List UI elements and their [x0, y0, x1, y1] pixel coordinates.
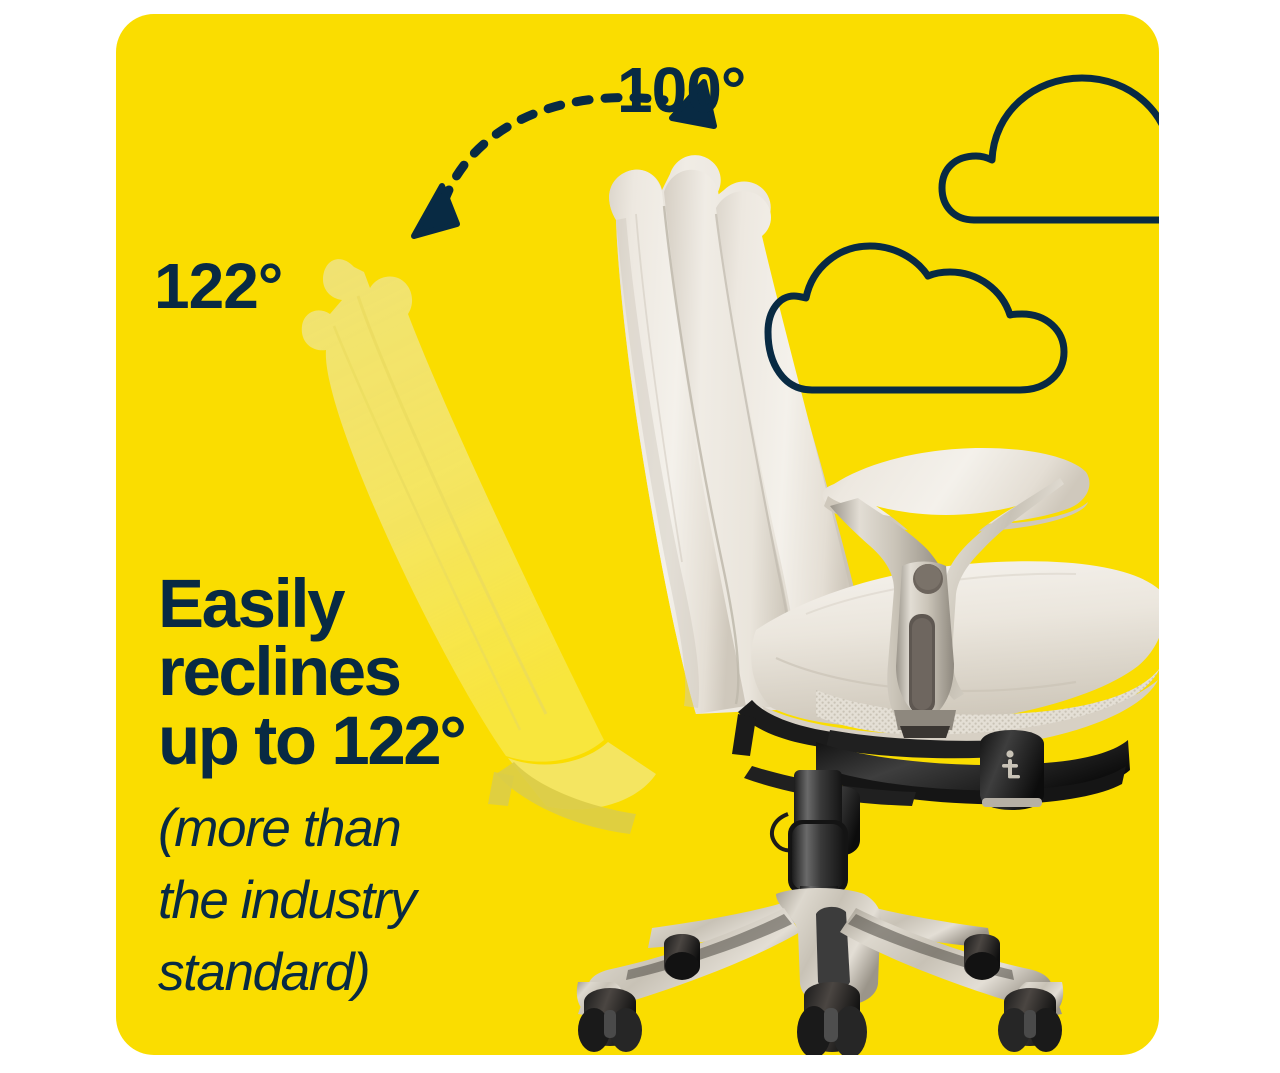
caster-front-center: [797, 982, 867, 1055]
angle-label-upright: 100°: [617, 58, 745, 122]
cloud-outline-top-icon: [938, 48, 1159, 248]
subcopy: (more than the industry standard): [158, 793, 678, 1009]
angle-label-reclined: 122°: [154, 254, 282, 318]
screenshot-stage: 100° 122° Easily reclines up to 122° (mo…: [0, 0, 1280, 1073]
copy-block: Easily reclines up to 122° (more than th…: [158, 570, 678, 1009]
headline: Easily reclines up to 122°: [158, 570, 678, 775]
cloud-outline-bottom-icon: [764, 242, 1084, 422]
caster-far-right: [998, 988, 1062, 1052]
promo-card: 100° 122° Easily reclines up to 122° (mo…: [116, 14, 1159, 1055]
